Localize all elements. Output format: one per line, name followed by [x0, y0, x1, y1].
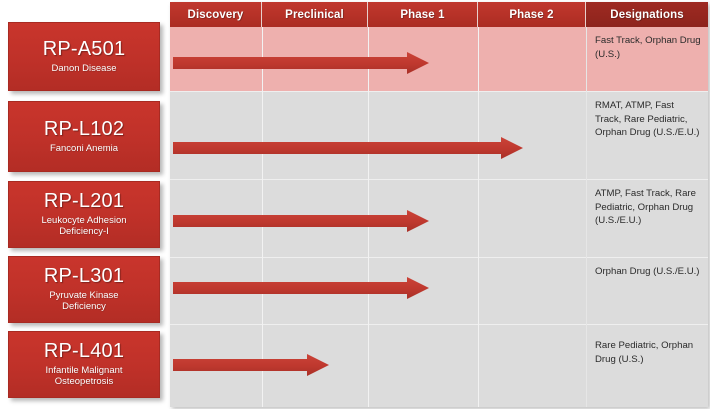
arrow-right-icon [173, 137, 523, 159]
program-box-2[interactable]: RP-L102 Fanconi Anemia [8, 101, 160, 172]
arrow-right-icon [173, 354, 329, 376]
arrow-right-icon [173, 210, 429, 232]
program-code: RP-L301 [44, 266, 124, 288]
progress-arrow-2[interactable] [173, 137, 523, 148]
program-box-3[interactable]: RP-L201 Leukocyte Adhesion Deficiency-I [8, 181, 160, 248]
program-box-1[interactable]: RP-A501 Danon Disease [8, 22, 160, 91]
arrow-right-icon [173, 52, 429, 74]
program-indication-line2: Deficiency [62, 301, 106, 313]
arrow-right-icon [173, 277, 429, 299]
designation-cell-1: Fast Track, Orphan Drug (U.S.) [586, 27, 708, 61]
table-header: Discovery Preclinical Phase 1 Phase 2 De… [170, 2, 708, 27]
column-header-preclinical[interactable]: Preclinical [262, 2, 368, 27]
progress-arrow-1[interactable] [173, 52, 429, 63]
pipeline-table: Discovery Preclinical Phase 1 Phase 2 De… [170, 2, 708, 407]
program-indication: Fanconi Anemia [50, 143, 118, 155]
column-header-phase-1[interactable]: Phase 1 [368, 2, 478, 27]
column-header-discovery[interactable]: Discovery [170, 2, 262, 27]
program-indication: Infantile Malignant [45, 365, 122, 377]
program-indication: Danon Disease [52, 63, 117, 75]
program-code: RP-L201 [44, 191, 124, 213]
program-indication-line2: Osteopetrosis [55, 376, 114, 388]
program-indication-line2: Deficiency-I [59, 226, 109, 238]
program-code: RP-L102 [44, 119, 124, 141]
program-indication: Leukocyte Adhesion [41, 215, 126, 227]
program-box-4[interactable]: RP-L301 Pyruvate Kinase Deficiency [8, 256, 160, 323]
designation-cell-4: Orphan Drug (U.S./E.U.) [586, 258, 708, 279]
designation-cell-5: Rare Pediatric, Orphan Drug (U.S.) [586, 332, 708, 366]
progress-arrow-4[interactable] [173, 277, 429, 288]
column-header-designations[interactable]: Designations [586, 2, 708, 27]
program-box-5[interactable]: RP-L401 Infantile Malignant Osteopetrosi… [8, 331, 160, 398]
column-separator-phase1 [478, 27, 479, 407]
pipeline-chart: RP-A501 Danon Disease RP-L102 Fanconi An… [0, 0, 710, 409]
progress-arrow-3[interactable] [173, 210, 429, 221]
program-code: RP-A501 [43, 39, 126, 61]
program-code: RP-L401 [44, 341, 124, 363]
column-header-phase-2[interactable]: Phase 2 [478, 2, 586, 27]
designation-cell-2: RMAT, ATMP, Fast Track, Rare Pediatric, … [586, 92, 708, 140]
designation-cell-3: ATMP, Fast Track, Rare Pediatric, Orphan… [586, 180, 708, 228]
program-indication: Pyruvate Kinase [49, 290, 118, 302]
progress-arrow-5[interactable] [173, 354, 329, 365]
